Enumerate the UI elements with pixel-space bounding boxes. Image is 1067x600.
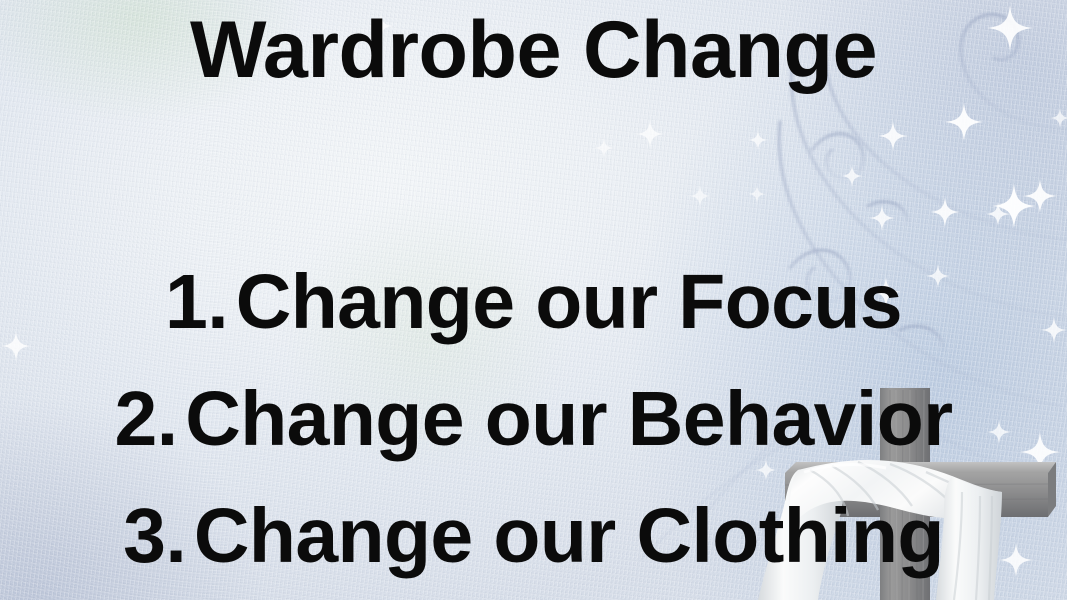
list-item-number: 3.	[123, 493, 186, 579]
list-item-label: Change our Focus	[236, 259, 902, 345]
presentation-slide: Wardrobe Change 1.Change our Focus 2.Cha…	[0, 0, 1067, 600]
list-item-label: Change our Clothing	[194, 493, 944, 579]
list-item-label: Change our Behavior	[185, 376, 952, 462]
bullet-list: 1.Change our Focus 2.Change our Behavior…	[0, 244, 1067, 595]
slide-content: Wardrobe Change 1.Change our Focus 2.Cha…	[0, 0, 1067, 600]
list-item: 3.Change our Clothing	[0, 478, 1067, 595]
page-title: Wardrobe Change	[0, 9, 1067, 92]
list-item: 1.Change our Focus	[0, 244, 1067, 361]
list-item-number: 2.	[114, 376, 177, 462]
list-item-number: 1.	[165, 259, 228, 345]
list-item: 2.Change our Behavior	[0, 361, 1067, 478]
